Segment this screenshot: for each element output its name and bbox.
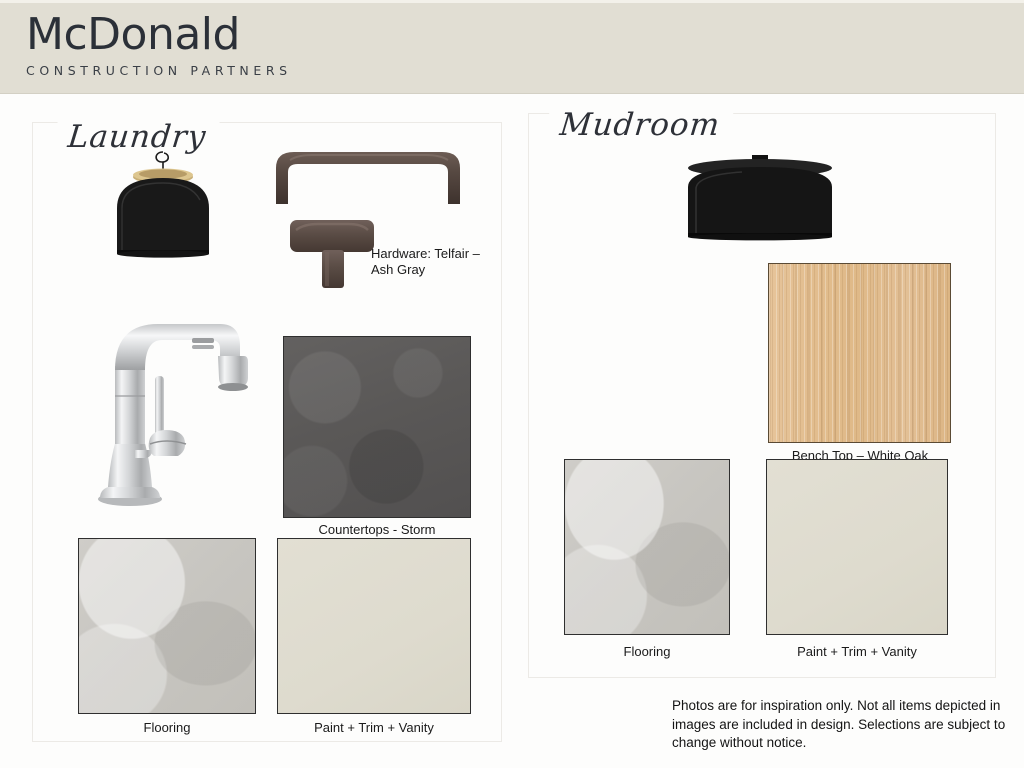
panel-title-mudroom: Mudroom: [546, 108, 734, 142]
caption-hardware: Hardware: Telfair – Ash Gray: [371, 246, 497, 278]
header-band: McDonald CONSTRUCTION PARTNERS: [0, 0, 1024, 94]
caption-flooring-mudroom: Flooring: [564, 643, 730, 660]
panel-title-laundry: Laundry: [54, 120, 220, 154]
caption-countertop: Countertops - Storm: [283, 521, 471, 538]
swatch-benchtop-white-oak: [768, 263, 951, 443]
swatch-countertop-storm: [283, 336, 471, 518]
caption-flooring-laundry: Flooring: [78, 719, 256, 736]
caption-paint-mudroom: Paint + Trim + Vanity: [766, 643, 948, 660]
company-tagline: CONSTRUCTION PARTNERS: [26, 63, 292, 79]
swatch-flooring-mudroom: [564, 459, 730, 635]
pendant-light-laundry-image: [96, 150, 230, 270]
swatch-paint-mudroom: [766, 459, 948, 635]
pendant-light-mudroom-image: [672, 155, 848, 255]
faucet-image: [88, 300, 264, 512]
company-logo: McDonald CONSTRUCTION PARTNERS: [26, 10, 292, 79]
company-name: McDonald: [26, 10, 292, 60]
swatch-paint-laundry: [277, 538, 471, 714]
swatch-flooring-laundry: [78, 538, 256, 714]
caption-paint-laundry: Paint + Trim + Vanity: [277, 719, 471, 736]
disclaimer-text: Photos are for inspiration only. Not all…: [672, 697, 1020, 753]
